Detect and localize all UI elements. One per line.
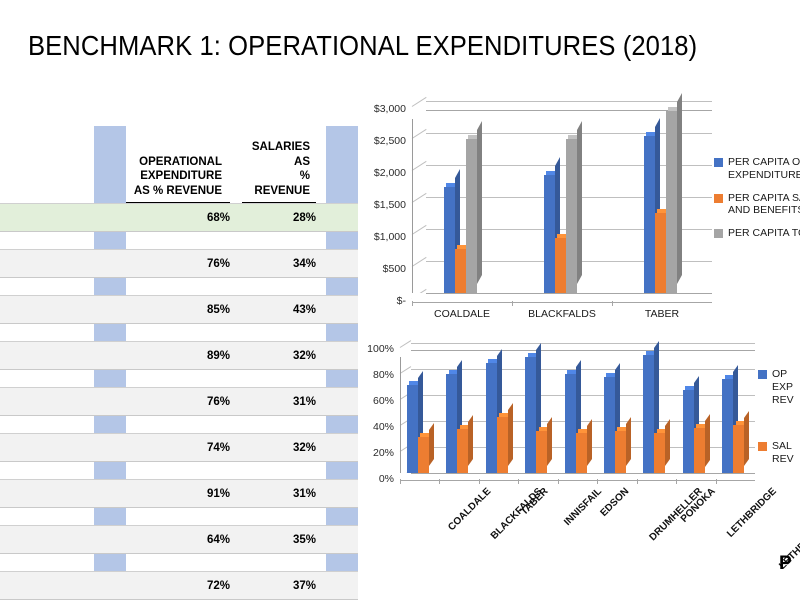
- legend-item[interactable]: PER CAPITA SALAND BENEFITS: [714, 192, 800, 218]
- bar[interactable]: [444, 187, 455, 293]
- spacer-op: [126, 232, 242, 250]
- cell-municipality: [0, 434, 94, 462]
- bar-side: [508, 403, 513, 466]
- chart-floor-back-edge: [411, 473, 755, 474]
- y-axis-tick-label: 40%: [342, 421, 394, 433]
- bar-face: [457, 429, 468, 473]
- table-spacer-row: [0, 324, 358, 342]
- x-axis-tick: [412, 301, 413, 306]
- legend-label-line: PER CAPITA OPE: [728, 156, 800, 168]
- y-axis-tick-label: $-: [354, 295, 406, 307]
- bar-face: [615, 431, 626, 473]
- bar[interactable]: [565, 374, 576, 473]
- spacer-name: [0, 508, 94, 526]
- y-axis-tick-label: $1,500: [354, 199, 406, 211]
- bar-side: [477, 121, 482, 284]
- legend-label-line: PER CAPITA SAL: [728, 192, 800, 204]
- bar[interactable]: [654, 433, 665, 473]
- chart-floor: [412, 293, 712, 303]
- y-axis-tick-label: 80%: [342, 369, 394, 381]
- spacer-sal: [242, 370, 326, 388]
- cell-municipality: [0, 480, 94, 508]
- cell-salaries-pct: 32%: [242, 342, 326, 370]
- legend-label: OPEXPREV: [772, 368, 794, 406]
- chart-legend: OPEXPREVSALREV: [758, 368, 794, 500]
- bar-face: [544, 175, 555, 293]
- x-axis-tick: [637, 479, 638, 484]
- bar[interactable]: [566, 139, 577, 293]
- table-row[interactable]: 76%31%: [0, 388, 358, 416]
- bar-face: [654, 433, 665, 473]
- bar-face: [733, 425, 744, 473]
- spacer-op: [126, 278, 242, 296]
- cell-salaries-pct: 35%: [242, 526, 326, 554]
- bar-face: [666, 111, 677, 293]
- cell-salaries-pct: 37%: [242, 572, 326, 600]
- gridline: [426, 101, 712, 102]
- spacer-op: [126, 370, 242, 388]
- cell-municipality: [0, 388, 94, 416]
- table-row[interactable]: 64%35%: [0, 526, 358, 554]
- legend-swatch-icon: [758, 442, 767, 451]
- bar-face: [643, 355, 654, 473]
- cell-municipality: [0, 526, 94, 554]
- bar-face: [576, 433, 587, 473]
- bar-side: [547, 417, 552, 466]
- legend-label: PER CAPITA TOT: [728, 227, 800, 240]
- band-left: [94, 554, 126, 572]
- spacer-op: [126, 508, 242, 526]
- cell-operational-pct: 72%: [126, 572, 242, 600]
- band-left: [94, 526, 126, 554]
- bar-side: [665, 419, 670, 466]
- bar[interactable]: [466, 139, 477, 293]
- cell-operational-pct: 91%: [126, 480, 242, 508]
- chart-floor: [400, 473, 755, 481]
- band-left: [94, 572, 126, 600]
- spacer-name: [0, 554, 94, 572]
- gridline: [411, 395, 755, 396]
- x-axis-tick: [558, 479, 559, 484]
- header-cell-operational: OPERATIONAL EXPENDITURE AS % REVENUE: [126, 126, 242, 204]
- cell-operational-pct: 64%: [126, 526, 242, 554]
- spacer-sal: [242, 508, 326, 526]
- legend-label-line: SAL: [772, 440, 792, 452]
- x-axis-tick: [439, 479, 440, 484]
- bar-face: [536, 431, 547, 473]
- bar-side: [677, 93, 682, 284]
- gridline-connector: [400, 366, 412, 374]
- band-left: [94, 232, 126, 250]
- corner-mark: P: [779, 553, 792, 575]
- bar[interactable]: [407, 385, 418, 473]
- bar-face: [683, 390, 694, 473]
- gridline: [411, 369, 755, 370]
- bar[interactable]: [497, 417, 508, 473]
- bar[interactable]: [604, 377, 615, 473]
- bar-side: [587, 419, 592, 466]
- legend-label-line: PER CAPITA TOT: [728, 227, 800, 239]
- cell-operational-pct: 76%: [126, 388, 242, 416]
- band-left: [94, 508, 126, 526]
- bar[interactable]: [644, 136, 655, 293]
- bar-face: [407, 385, 418, 473]
- bar-face: [466, 139, 477, 293]
- legend-label-line: AND BENEFITS: [728, 204, 800, 216]
- y-axis-line: [400, 357, 401, 480]
- legend-swatch-icon: [714, 194, 723, 203]
- header-salaries-line2: % REVENUE: [254, 170, 310, 196]
- per-capita-chart: $-$500$1,000$1,500$2,000$2,500$3,000COAL…: [356, 98, 800, 330]
- legend-item[interactable]: OPEXPREV: [758, 368, 794, 406]
- y-axis-tick-label: $2,000: [354, 167, 406, 179]
- header-band-left: [94, 126, 126, 204]
- bar[interactable]: [615, 431, 626, 473]
- cell-operational-pct: 76%: [126, 250, 242, 278]
- table-row[interactable]: 76%34%: [0, 250, 358, 278]
- x-axis-tick: [512, 301, 513, 306]
- bar[interactable]: [733, 425, 744, 473]
- bar-face: [604, 377, 615, 473]
- y-axis-line: [412, 119, 413, 302]
- bar-side: [429, 423, 434, 466]
- bar[interactable]: [544, 175, 555, 293]
- cell-municipality: [0, 204, 94, 232]
- legend-label-line: EXPENDITURES: [728, 169, 800, 181]
- page-title: BENCHMARK 1: OPERATIONAL EXPENDITURES (2…: [28, 30, 735, 62]
- spacer-name: [0, 232, 94, 250]
- y-axis-tick-label: 100%: [342, 343, 394, 355]
- bar-face: [446, 374, 457, 473]
- y-axis-tick-label: $1,000: [354, 231, 406, 243]
- x-axis-tick-label: TABER: [602, 308, 722, 320]
- band-right: [326, 554, 358, 572]
- band-left: [94, 370, 126, 388]
- x-axis-tick: [612, 301, 613, 306]
- band-right: [326, 526, 358, 554]
- bar[interactable]: [666, 111, 677, 293]
- bar-face: [486, 363, 497, 474]
- table-row[interactable]: OUNTY72%37%: [0, 572, 358, 600]
- cell-salaries-pct: 32%: [242, 434, 326, 462]
- chart-floor-back-edge: [426, 293, 712, 294]
- legend-item[interactable]: PER CAPITA TOT: [714, 227, 800, 240]
- table-spacer-row: [0, 370, 358, 388]
- y-axis-tick-label: $3,000: [354, 103, 406, 115]
- table-row[interactable]: 89%32%: [0, 342, 358, 370]
- bar[interactable]: [536, 431, 547, 473]
- bar[interactable]: [643, 355, 654, 473]
- bar[interactable]: [722, 379, 733, 473]
- band-right: [326, 324, 358, 342]
- percent-revenue-chart: 0%20%40%60%80%100%COALDALEBLACKFALDSTABE…: [356, 340, 800, 570]
- band-left: [94, 204, 126, 232]
- band-left: [94, 324, 126, 342]
- header-cell-salaries: SALARIES AS % REVENUE: [242, 126, 326, 204]
- table-spacer-row: [0, 232, 358, 250]
- table-spacer-row: [0, 278, 358, 296]
- bar-side: [705, 414, 710, 467]
- gridline-connector: [412, 161, 427, 171]
- bar-side: [577, 121, 582, 284]
- bar[interactable]: [457, 429, 468, 473]
- legend-swatch-icon: [758, 370, 767, 379]
- spacer-sal: [242, 232, 326, 250]
- spacer-op: [126, 416, 242, 434]
- spacer-op: [126, 554, 242, 572]
- bar[interactable]: [694, 428, 705, 474]
- bar[interactable]: [576, 433, 587, 473]
- header-operational-line1: OPERATIONAL: [139, 156, 222, 168]
- table-body: OPERATIONAL EXPENDITURE AS % REVENUE SAL…: [0, 126, 358, 600]
- x-axis-tick: [518, 479, 519, 484]
- header-cell-name: [0, 126, 94, 204]
- cell-operational-pct: 74%: [126, 434, 242, 462]
- band-left: [94, 250, 126, 278]
- bar-face: [694, 428, 705, 474]
- y-axis-tick-label: 0%: [342, 473, 394, 485]
- gridline-connector: [412, 257, 427, 267]
- table-spacer-row: [0, 462, 358, 480]
- legend-item[interactable]: PER CAPITA OPEEXPENDITURES: [714, 156, 800, 182]
- cell-salaries-pct: 31%: [242, 480, 326, 508]
- bar-face: [418, 437, 429, 473]
- y-axis-tick-label: $500: [354, 263, 406, 275]
- table-spacer-row: [0, 508, 358, 526]
- bar[interactable]: [486, 363, 497, 474]
- spacer-op: [126, 462, 242, 480]
- spacer-sal: [242, 324, 326, 342]
- x-axis-tick-label: COALDALE: [446, 486, 493, 533]
- header-operational-line3: AS % REVENUE: [134, 185, 222, 197]
- header-operational-line2: EXPENDITURE: [140, 170, 222, 182]
- gridline-connector: [412, 225, 427, 235]
- bar-face: [566, 139, 577, 293]
- cell-municipality: [0, 250, 94, 278]
- spacer-name: [0, 324, 94, 342]
- band-left: [94, 480, 126, 508]
- bar[interactable]: [418, 437, 429, 473]
- cell-operational-pct: 68%: [126, 204, 242, 232]
- band-left: [94, 462, 126, 480]
- band-left: [94, 342, 126, 370]
- legend-label-line: EXP: [772, 381, 793, 393]
- x-axis-tick: [676, 479, 677, 484]
- bar-face: [555, 238, 566, 293]
- spacer-name: [0, 462, 94, 480]
- legend-swatch-icon: [714, 158, 723, 167]
- spacer-sal: [242, 462, 326, 480]
- bar-face: [722, 379, 733, 473]
- x-axis-tick: [597, 479, 598, 484]
- cell-salaries-pct: 43%: [242, 296, 326, 324]
- bar-face: [565, 374, 576, 473]
- bar-side: [468, 415, 473, 466]
- band-right: [326, 278, 358, 296]
- cell-operational-pct: 85%: [126, 296, 242, 324]
- spacer-name: [0, 416, 94, 434]
- legend-label-line: REV: [772, 453, 794, 465]
- cell-municipality: OUNTY: [0, 572, 94, 600]
- cell-operational-pct: 89%: [126, 342, 242, 370]
- bar[interactable]: [683, 390, 694, 473]
- band-left: [94, 296, 126, 324]
- cell-salaries-pct: 31%: [242, 388, 326, 416]
- x-axis-tick-label: EDSON: [598, 486, 631, 519]
- legend-label: PER CAPITA OPEEXPENDITURES: [728, 156, 800, 182]
- bar-face: [497, 417, 508, 473]
- gridline: [411, 343, 755, 344]
- bar[interactable]: [455, 249, 466, 293]
- bar[interactable]: [555, 238, 566, 293]
- table-row[interactable]: 91%31%: [0, 480, 358, 508]
- legend-label: SALREV: [772, 440, 794, 466]
- gridline-connector: [412, 129, 427, 139]
- table-spacer-row: [0, 554, 358, 572]
- chart-back-wall-edge: [411, 350, 755, 351]
- gridline-connector: [412, 193, 427, 203]
- bar[interactable]: [525, 357, 536, 473]
- bar-face: [644, 136, 655, 293]
- spacer-sal: [242, 278, 326, 296]
- cell-salaries-pct: 34%: [242, 250, 326, 278]
- band-left: [94, 416, 126, 434]
- band-right: [326, 572, 358, 600]
- bar-side: [626, 417, 631, 466]
- benchmark-table: OPERATIONAL EXPENDITURE AS % REVENUE SAL…: [0, 126, 358, 600]
- gridline-connector: [400, 340, 412, 348]
- table-row[interactable]: 85%43%: [0, 296, 358, 324]
- y-axis-tick-label: 20%: [342, 447, 394, 459]
- spacer-sal: [242, 416, 326, 434]
- x-axis-tick-label: INNISFAIL: [562, 486, 604, 528]
- bar-face: [444, 187, 455, 293]
- bar-face: [655, 213, 666, 293]
- benchmark-table-panel: OPERATIONAL EXPENDITURE AS % REVENUE SAL…: [0, 126, 330, 526]
- band-left: [94, 388, 126, 416]
- x-axis-tick: [479, 479, 480, 484]
- band-right: [326, 508, 358, 526]
- spacer-name: [0, 278, 94, 296]
- bar[interactable]: [655, 213, 666, 293]
- bar[interactable]: [446, 374, 457, 473]
- bar-side: [744, 411, 749, 466]
- chart-legend: PER CAPITA OPEEXPENDITURESPER CAPITA SAL…: [714, 156, 800, 250]
- table-header-row: OPERATIONAL EXPENDITURE AS % REVENUE SAL…: [0, 126, 358, 204]
- legend-label: PER CAPITA SALAND BENEFITS: [728, 192, 800, 218]
- bar-face: [455, 249, 466, 293]
- cell-municipality: [0, 342, 94, 370]
- gridline-connector: [412, 97, 427, 107]
- spacer-op: [126, 324, 242, 342]
- legend-item[interactable]: SALREV: [758, 440, 794, 466]
- band-left: [94, 278, 126, 296]
- legend-label-line: OP: [772, 368, 787, 380]
- bar-face: [525, 357, 536, 473]
- spacer-sal: [242, 554, 326, 572]
- table-row[interactable]: 68%28%: [0, 204, 358, 232]
- band-left: [94, 434, 126, 462]
- x-axis-tick: [400, 479, 401, 484]
- y-axis-tick-label: $2,500: [354, 135, 406, 147]
- legend-swatch-icon: [714, 229, 723, 238]
- x-axis-tick: [716, 479, 717, 484]
- header-salaries-line1: SALARIES AS: [252, 141, 310, 167]
- cell-salaries-pct: 28%: [242, 204, 326, 232]
- y-axis-tick-label: 60%: [342, 395, 394, 407]
- gridline: [411, 421, 755, 422]
- legend-label-line: REV: [772, 394, 794, 406]
- table-row[interactable]: 74%32%: [0, 434, 358, 462]
- table-spacer-row: [0, 416, 358, 434]
- cell-municipality: [0, 296, 94, 324]
- spacer-name: [0, 370, 94, 388]
